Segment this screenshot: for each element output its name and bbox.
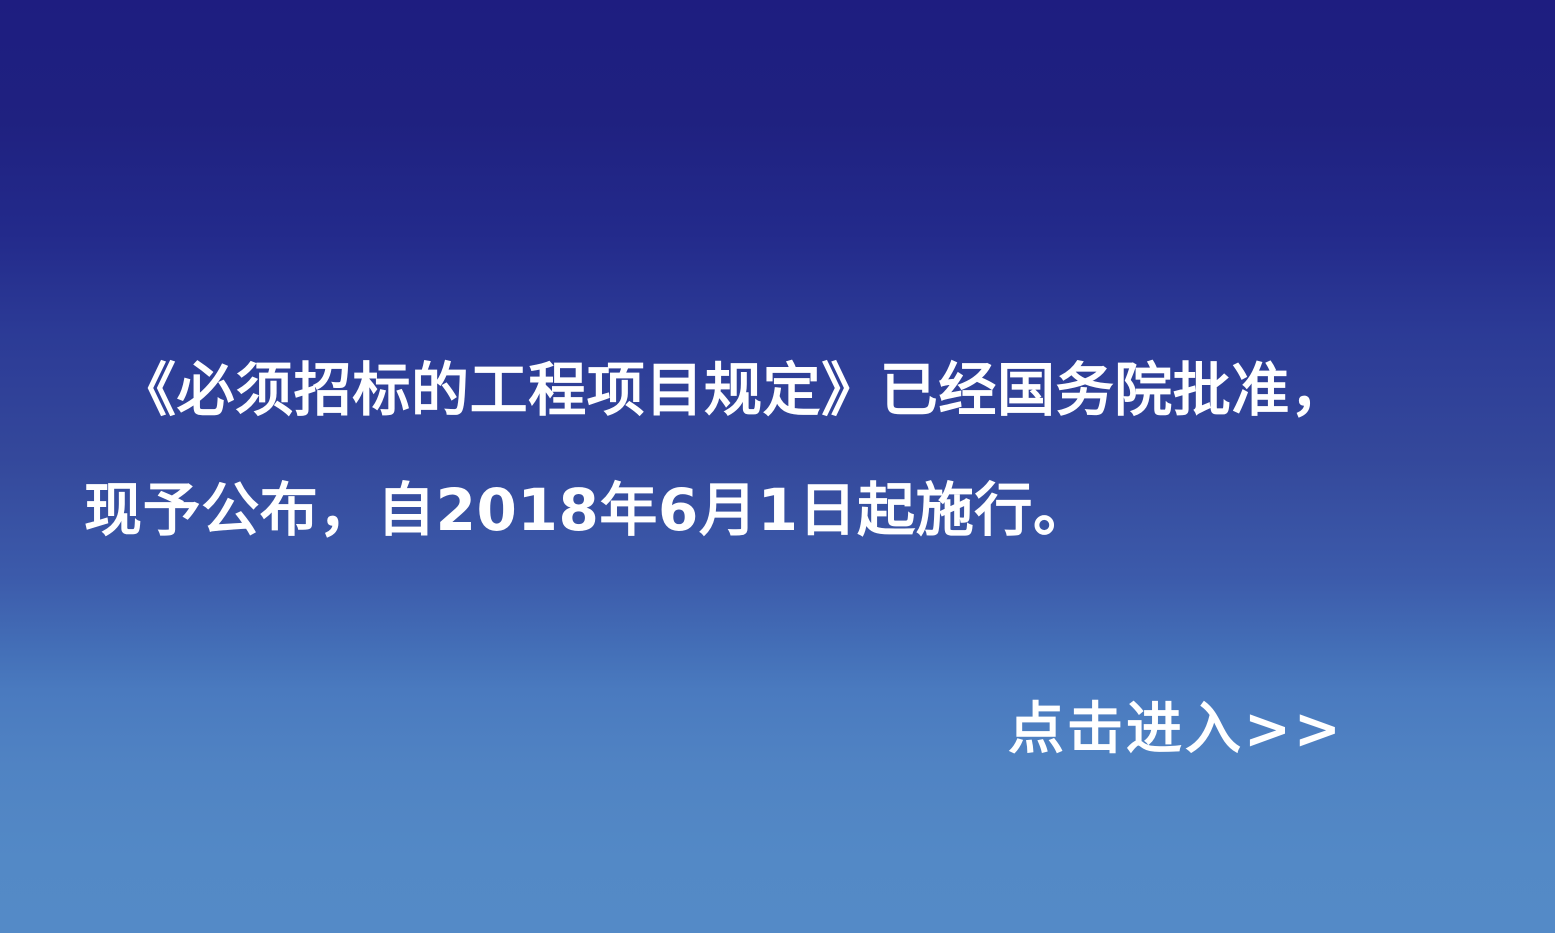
announcement-line-2: 现予公布，自2018年6月1日起施行。 (0, 450, 1555, 570)
click-to-enter-link[interactable]: 点击进入>> (1008, 690, 1344, 770)
announcement-banner: 《必须招标的工程项目规定》已经国务院批准， 现予公布，自2018年6月1日起施行… (0, 0, 1555, 933)
announcement-line-1: 《必须招标的工程项目规定》已经国务院批准， (0, 330, 1555, 450)
announcement-text: 《必须招标的工程项目规定》已经国务院批准， 现予公布，自2018年6月1日起施行… (0, 330, 1555, 570)
